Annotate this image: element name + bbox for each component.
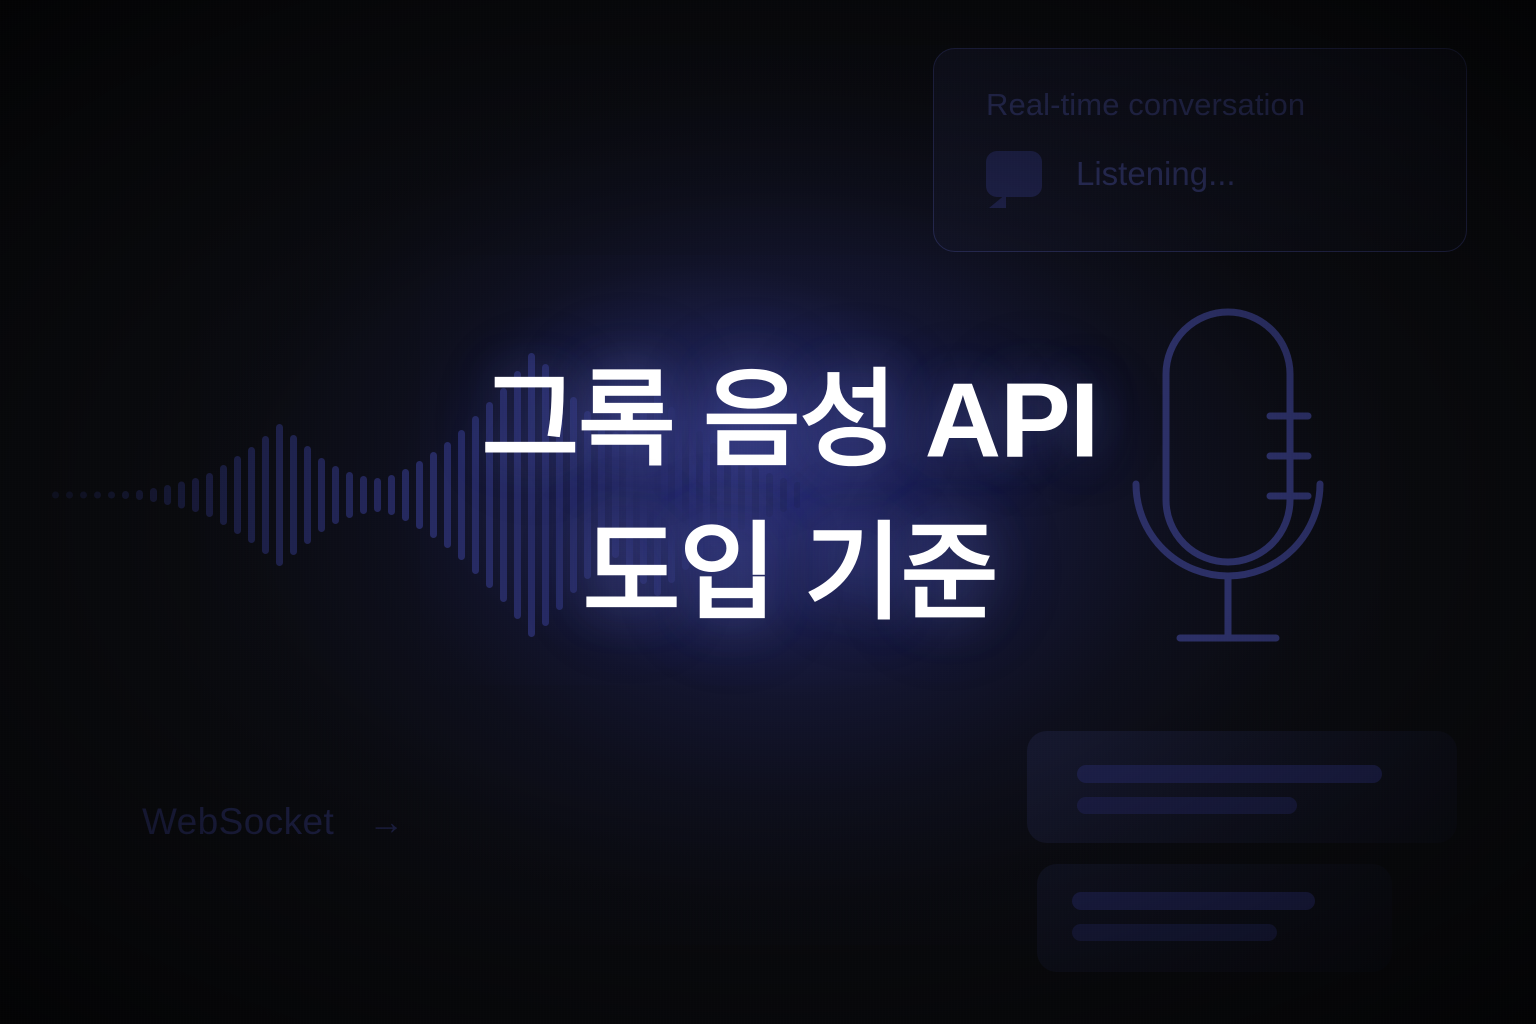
page-title: 그록 음성 API 도입 기준	[290, 344, 1290, 649]
skeleton-bar	[1077, 797, 1297, 814]
websocket-label-text: WebSocket	[142, 801, 334, 843]
chat-bubble-icon	[986, 151, 1042, 197]
realtime-conversation-card[interactable]: Real-time conversation Listening...	[933, 48, 1467, 252]
arrow-right-icon: →	[368, 804, 404, 840]
message-bubble-placeholder	[1037, 864, 1392, 972]
skeleton-bar	[1077, 765, 1382, 783]
title-line-2: 도입 기준	[290, 497, 1290, 650]
message-bubble-placeholder	[1027, 731, 1457, 843]
websocket-label[interactable]: WebSocket →	[142, 801, 405, 843]
realtime-status-row: Listening...	[986, 151, 1466, 197]
title-line-1: 그록 음성 API	[290, 344, 1290, 497]
realtime-card-title: Real-time conversation	[986, 87, 1466, 123]
skeleton-bar	[1072, 892, 1315, 910]
hero-banner: Real-time conversation Listening... 그록 음…	[0, 0, 1536, 1024]
skeleton-bar	[1072, 924, 1277, 941]
listening-status-text: Listening...	[1076, 155, 1236, 193]
